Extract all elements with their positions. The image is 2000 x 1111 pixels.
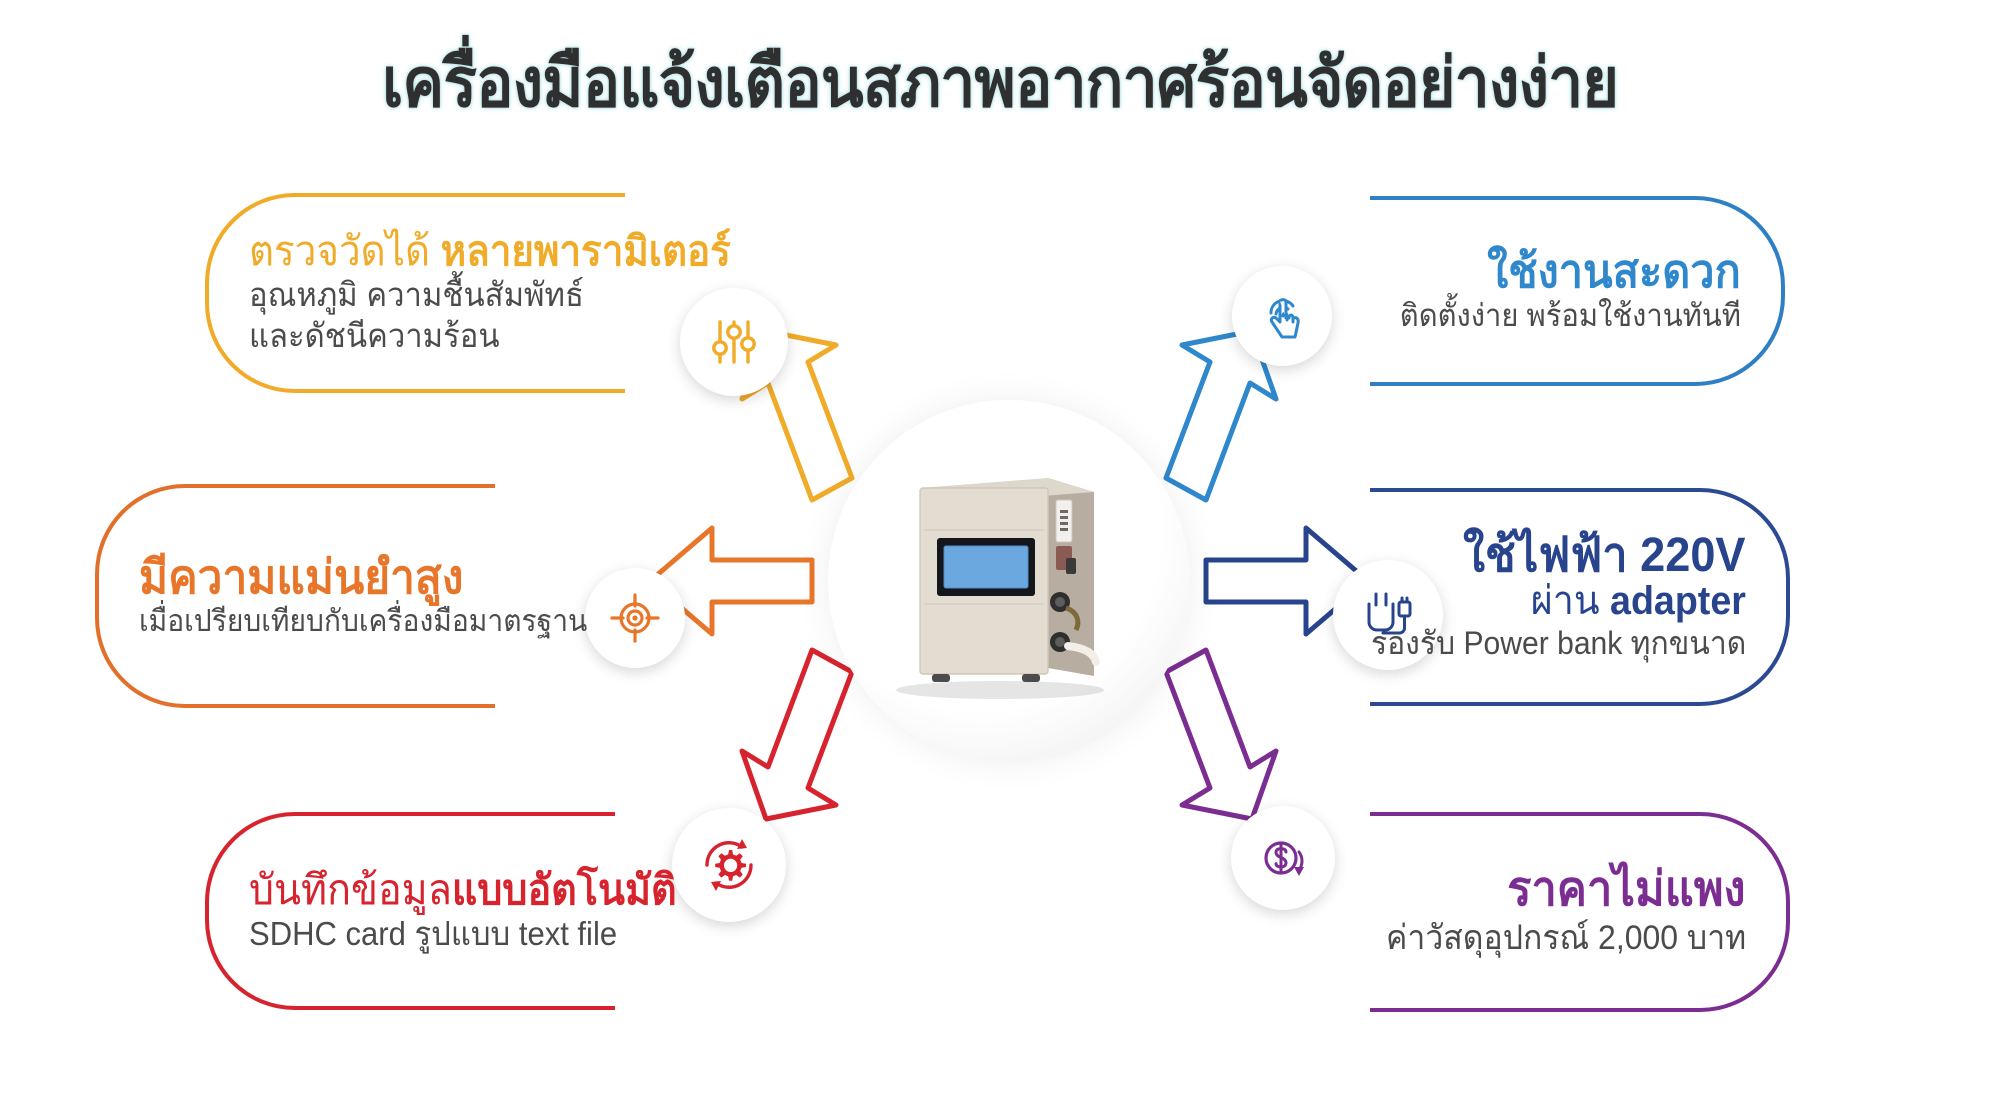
card-parameters-sub-2: และดัชนีความร้อน	[249, 318, 500, 355]
touch-tap-icon-badge	[1232, 266, 1332, 366]
target-icon-badge	[585, 568, 685, 668]
headline-bold: หลายพารามิเตอร์	[441, 228, 731, 274]
target-icon	[608, 591, 662, 645]
card-accuracy-sub-1: เมื่อเปรียบเทียบกับเครื่องมือมาตรฐาน	[139, 605, 587, 639]
headline-light: ตรวจวัดได้	[249, 228, 430, 274]
card-parameters[interactable]: ตรวจวัดได้ หลายพารามิเตอร์ อุณหภูมิ ความ…	[205, 193, 625, 393]
card-power-headline: ใช้ไฟฟ้า 220V	[1464, 532, 1746, 581]
card-price[interactable]: ราคาไม่แพง ค่าวัสดุอุปกรณ์ 2,000 บาท	[1370, 812, 1790, 1012]
sliders-icon-badge	[680, 288, 788, 396]
card-easy-use-sub-1: ติดตั้งง่าย พร้อมใช้งานทันที	[1400, 299, 1741, 334]
dollar-cost-down-icon	[1255, 830, 1311, 886]
device-image	[880, 462, 1130, 702]
card-logging-headline: บันทึกข้อมูลแบบอัตโนมัติ	[249, 869, 677, 912]
card-power[interactable]: ใช้ไฟฟ้า 220V ผ่าน adapter รองรับ Power …	[1370, 488, 1790, 706]
card-logging-sub-1: SDHC card รูปแบบ text file	[249, 916, 617, 953]
dollar-cost-down-icon-badge	[1231, 806, 1335, 910]
auto-refresh-gear-icon	[698, 834, 760, 896]
card-easy-use-headline: ใช้งานสะดวก	[1487, 248, 1741, 295]
touch-tap-icon	[1255, 289, 1309, 343]
card-easy-use[interactable]: ใช้งานสะดวก ติดตั้งง่าย พร้อมใช้งานทันที	[1370, 196, 1785, 386]
card-logging[interactable]: บันทึกข้อมูลแบบอัตโนมัติ SDHC card รูปแบ…	[205, 812, 615, 1010]
card-price-headline: ราคาไม่แพง	[1508, 866, 1746, 915]
card-accuracy-headline: มีความแม่นยำสูง	[139, 553, 463, 601]
headline-line2-bold: adapter	[1610, 579, 1746, 623]
card-parameters-sub-1: อุณหภูมิ ความชื้นสัมพัทธ์	[249, 277, 584, 314]
arrow-down-left	[742, 650, 852, 819]
headline-light: บันทึกข้อมูล	[249, 866, 452, 913]
card-price-sub-1: ค่าวัสดุอุปกรณ์ 2,000 บาท	[1386, 919, 1746, 957]
infographic-canvas: เครื่องมือแจ้งเตือนสภาพอากาศร้อนจัดอย่าง…	[0, 0, 2000, 1111]
auto-refresh-gear-icon-badge	[672, 808, 786, 922]
card-parameters-headline: ตรวจวัดได้ หลายพารามิเตอร์	[249, 231, 731, 273]
arrow-down-right	[1166, 650, 1276, 819]
sliders-icon	[706, 314, 762, 370]
card-power-headline-line2: ผ่าน adapter	[1531, 581, 1746, 622]
card-power-sub-1: รองรับ Power bank ทุกขนาด	[1371, 626, 1746, 662]
headline-line2-light: ผ่าน	[1531, 579, 1600, 623]
headline-bold: แบบอัตโนมัติ	[452, 866, 677, 913]
card-accuracy[interactable]: มีความแม่นยำสูง เมื่อเปรียบเทียบกับเครื่…	[95, 484, 495, 708]
